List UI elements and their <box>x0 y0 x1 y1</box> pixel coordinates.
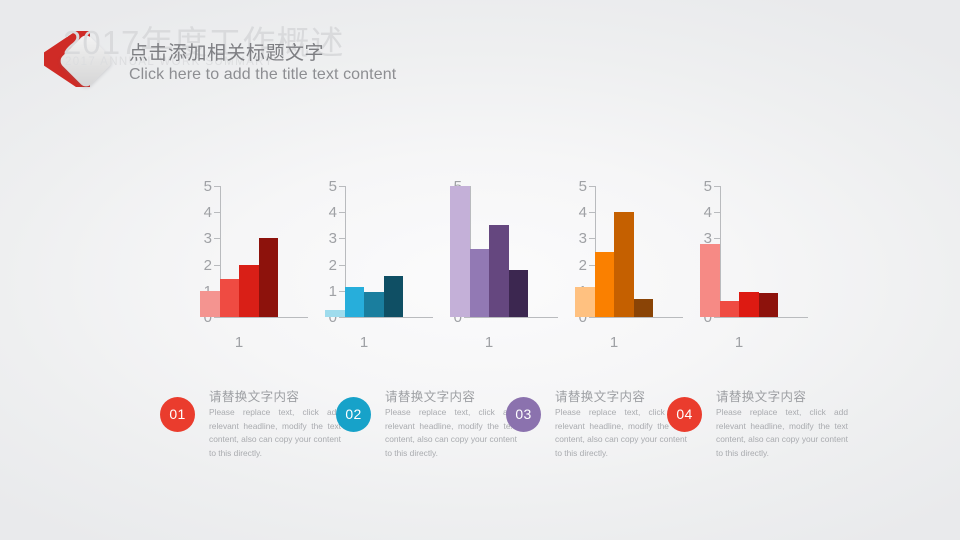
info-block-03[interactable]: 03请替换文字内容Please replace text, click add … <box>506 386 691 501</box>
bar <box>200 291 220 317</box>
bar <box>470 249 490 317</box>
bar <box>720 301 740 317</box>
y-axis-tick <box>339 317 346 318</box>
page-title-en: Click here to add the title text content <box>129 66 396 84</box>
block-body-text: Please replace text, click add relevant … <box>385 406 517 460</box>
bar-chart-4: 5432101 <box>553 186 678 356</box>
info-block-04[interactable]: 04请替换文字内容Please replace text, click add … <box>667 386 852 501</box>
slide-canvas: 2017年度工作概述 2017 ANNUAL WORK SUMMARY 点击添加… <box>0 0 960 540</box>
bar <box>325 310 345 317</box>
page-title-cn: 点击添加相关标题文字 <box>129 38 324 65</box>
x-axis-label: 1 <box>575 334 653 351</box>
bar <box>239 265 259 317</box>
bar-chart-3: 5432101 <box>428 186 553 356</box>
bar <box>509 270 529 317</box>
x-axis-label: 1 <box>700 334 778 351</box>
x-axis-label: 1 <box>200 334 278 351</box>
bar-group <box>200 186 278 317</box>
bar <box>634 299 654 317</box>
bar-group <box>700 186 778 317</box>
bar <box>700 244 720 317</box>
bar <box>759 293 779 317</box>
bar <box>614 212 634 317</box>
bar <box>345 287 365 317</box>
bar-group <box>325 186 403 317</box>
bar <box>595 252 615 318</box>
bar <box>489 225 509 317</box>
block-body-text: Please replace text, click add relevant … <box>209 406 341 460</box>
step-number-badge[interactable]: 03 <box>506 397 541 432</box>
info-block-02[interactable]: 02请替换文字内容Please replace text, click add … <box>336 386 521 501</box>
block-heading: 请替换文字内容 <box>385 386 475 405</box>
bar <box>259 238 279 317</box>
step-number-badge[interactable]: 04 <box>667 397 702 432</box>
info-block-01[interactable]: 01请替换文字内容Please replace text, click add … <box>160 386 345 501</box>
bar <box>384 276 404 317</box>
bar-chart-2: 5432101 <box>303 186 428 356</box>
x-axis-line <box>714 317 808 318</box>
step-number-badge[interactable]: 01 <box>160 397 195 432</box>
charts-row: 54321015432101543210154321015432101 <box>0 186 960 356</box>
bar <box>739 292 759 317</box>
y-axis-tick <box>589 317 596 318</box>
bar-group <box>450 186 528 317</box>
bar <box>220 279 240 317</box>
slide-header: 2017年度工作概述 2017 ANNUAL WORK SUMMARY 点击添加… <box>0 0 560 110</box>
step-number-badge[interactable]: 02 <box>336 397 371 432</box>
x-axis-label: 1 <box>450 334 528 351</box>
y-axis-tick <box>714 317 721 318</box>
x-axis-line <box>464 317 558 318</box>
block-body-text: Please replace text, click add relevant … <box>716 406 848 460</box>
block-heading: 请替换文字内容 <box>555 386 645 405</box>
x-axis-line <box>214 317 308 318</box>
x-axis-line <box>339 317 433 318</box>
y-axis-tick <box>214 317 221 318</box>
block-heading: 请替换文字内容 <box>209 386 299 405</box>
bar <box>364 292 384 317</box>
bar-group <box>575 186 653 317</box>
bar-chart-1: 5432101 <box>178 186 303 356</box>
bar <box>450 186 470 317</box>
info-blocks-row: 01请替换文字内容Please replace text, click add … <box>0 386 960 506</box>
bar-chart-5: 5432101 <box>678 186 803 356</box>
bar <box>575 287 595 317</box>
y-axis-tick <box>464 317 471 318</box>
block-heading: 请替换文字内容 <box>716 386 806 405</box>
x-axis-line <box>589 317 683 318</box>
x-axis-label: 1 <box>325 334 403 351</box>
